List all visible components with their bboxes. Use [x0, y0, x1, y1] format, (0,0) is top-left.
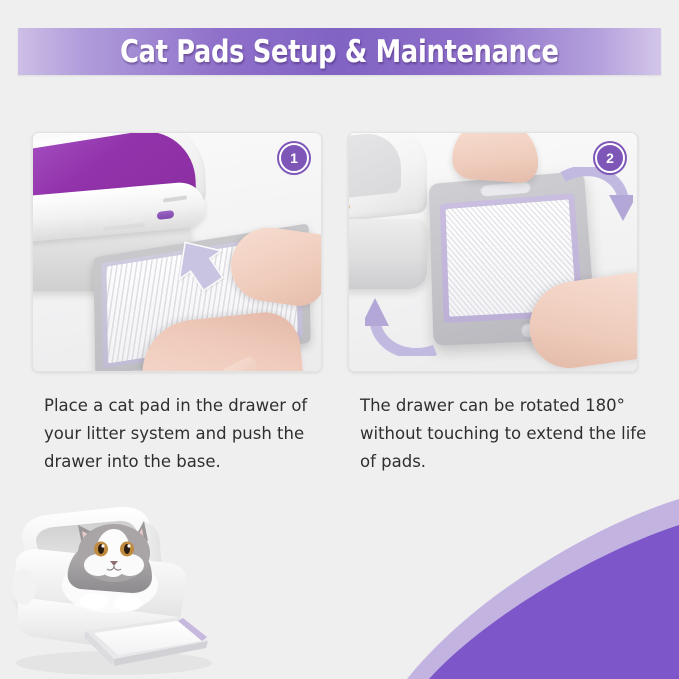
corner-swoosh-decoration — [379, 499, 679, 679]
step-1-caption: Place a cat pad in the drawer of your li… — [44, 392, 336, 476]
step-1-illustration: 1 — [33, 133, 321, 371]
thumb — [213, 355, 266, 371]
step-2-caption: The drawer can be rotated 180° without t… — [360, 392, 652, 476]
step-2-illustration: 2 — [349, 133, 637, 371]
page-title: Cat Pads Setup & Maintenance — [120, 34, 559, 70]
title-banner: Cat Pads Setup & Maintenance — [18, 28, 661, 75]
litter-box-base — [349, 219, 427, 289]
litter-granules — [349, 175, 387, 219]
infographic-page: Cat Pads Setup & Maintenance — [0, 0, 679, 679]
step-2-badge: 2 — [595, 143, 625, 173]
step-1-badge: 1 — [279, 143, 309, 173]
step-2-panel: 2 — [348, 132, 638, 372]
rotation-arrow-up-icon — [365, 290, 443, 361]
tray-handle — [480, 180, 531, 197]
product-photo-cat-in-litter-box — [2, 501, 224, 677]
hand-top — [451, 133, 541, 184]
step-1-panel: 1 — [32, 132, 322, 372]
rotation-arrow-down-icon — [559, 167, 633, 234]
